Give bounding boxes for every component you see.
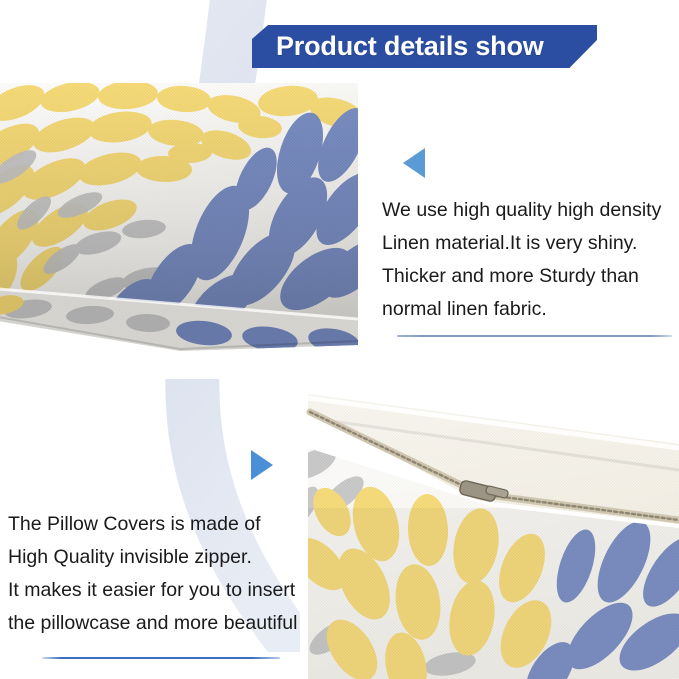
- header-banner: Product details show: [252, 25, 597, 68]
- material-description: We use high quality high density Linen m…: [382, 194, 661, 326]
- material-line-2: Linen material.It is very shiny.: [382, 227, 661, 260]
- pointer-right-icon: [251, 450, 273, 480]
- product-details-page: Product details show: [0, 0, 679, 679]
- zipper-line-1: The Pillow Covers is made of: [8, 508, 297, 541]
- page-title: Product details show: [252, 25, 597, 68]
- material-line-3: Thicker and more Sturdy than: [382, 260, 661, 293]
- invisible-zipper-photo: [300, 388, 679, 679]
- zipper-section-divider: [42, 657, 280, 659]
- material-section-divider: [397, 335, 672, 337]
- folded-linen-fabric-photo: [0, 83, 358, 379]
- zipper-description: The Pillow Covers is made of High Qualit…: [8, 508, 297, 640]
- pointer-left-icon: [403, 148, 425, 178]
- zipper-line-4: the pillowcase and more beautiful: [8, 607, 297, 640]
- zipper-line-2: High Quality invisible zipper.: [8, 541, 297, 574]
- material-line-4: normal linen fabric.: [382, 293, 661, 326]
- material-line-1: We use high quality high density: [382, 194, 661, 227]
- zipper-line-3: It makes it easier for you to insert: [8, 574, 297, 607]
